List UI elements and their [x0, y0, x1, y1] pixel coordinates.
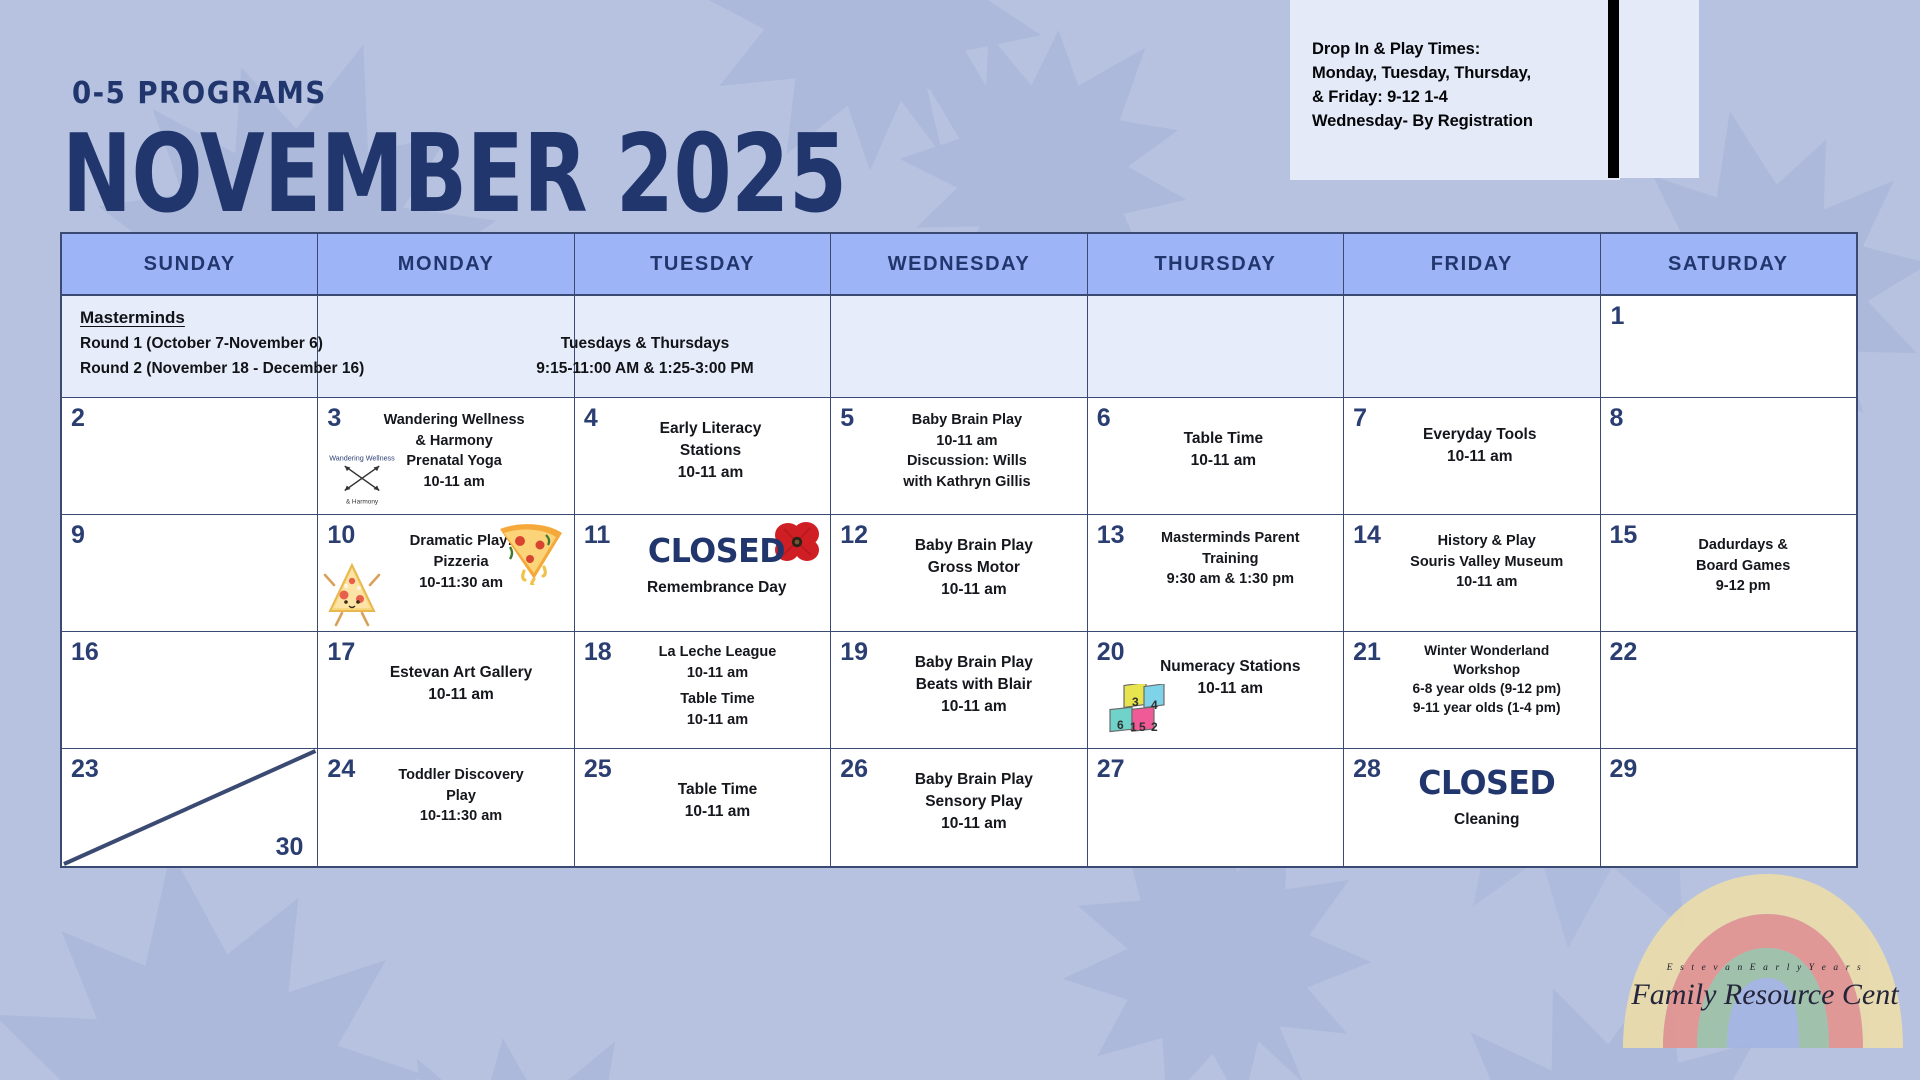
event-line: Wandering Wellness [341, 410, 567, 431]
event-line: Everyday Tools [1367, 424, 1593, 446]
svg-text:& Harmony: & Harmony [346, 498, 379, 505]
event-line: Sensory Play [868, 791, 1080, 813]
event-line: Discussion: Wills [854, 451, 1080, 472]
event-line: 10-11 am [868, 696, 1080, 718]
week-row-3: 16 17 Estevan Art Gallery 10-11 am 18 La… [62, 632, 1856, 749]
event-line: 10-11:30 am [355, 806, 567, 827]
week-row-2: 9 10 [62, 515, 1856, 632]
event-line: 10-11 am [598, 462, 824, 484]
day-cell-14[interactable]: 14 History & Play Souris Valley Museum 1… [1344, 515, 1600, 632]
day-cell-28[interactable]: 28 CLOSED Cleaning [1344, 749, 1600, 866]
weekday-label: MONDAY [398, 253, 495, 276]
event-line: 10-11 am [1367, 446, 1593, 468]
masterminds-round1: Round 1 (October 7-November 6) Tuesdays … [80, 332, 840, 357]
event-line: Stations [598, 440, 824, 462]
day-number: 1 [1606, 300, 1625, 329]
logo-name: Family Resource Cent [1630, 978, 1899, 1011]
dropin-line-days: Monday, Tuesday, Thursday, [1312, 62, 1620, 86]
event-text: Baby Brain Play Beats with Blair 10-11 a… [868, 636, 1083, 718]
day-number: 12 [835, 519, 868, 548]
weekday-header-sunday: SUNDAY [62, 234, 318, 296]
weekday-header-monday: MONDAY [318, 234, 574, 296]
masterminds-cell-thursday [1088, 296, 1344, 398]
event-line: 10-11 am [868, 813, 1080, 835]
day-cell-19[interactable]: 19 Baby Brain Play Beats with Blair 10-1… [831, 632, 1087, 749]
day-number: 9 [66, 519, 85, 548]
event-line: Beats with Blair [868, 674, 1080, 696]
svg-text:1: 1 [1130, 720, 1137, 734]
programs-kicker: 0-5 PROGRAMS [72, 76, 327, 111]
event-text: Everyday Tools 10-11 am [1367, 402, 1596, 468]
svg-text:6: 6 [1117, 718, 1124, 732]
family-resource-centre-logo: E s t e v a n E a r l y Y e a r s Family… [1615, 852, 1915, 1057]
wandering-wellness-logo-icon: Wandering Wellness & Harmony [326, 450, 398, 508]
day-cell-3[interactable]: 3 Wandering Wellness & Harmony Wandering… [318, 398, 574, 515]
day-cell-27[interactable]: 27 [1088, 749, 1344, 866]
masterminds-info: Masterminds Round 1 (October 7-November … [80, 308, 840, 382]
svg-text:2: 2 [1151, 720, 1158, 734]
weekday-label: TUESDAY [650, 253, 755, 276]
event-text: Early Literacy Stations 10-11 am [598, 402, 827, 484]
day-number: 16 [66, 636, 99, 665]
day-cell-26[interactable]: 26 Baby Brain Play Sensory Play 10-11 am [831, 749, 1087, 866]
event-text: CLOSED Cleaning [1381, 753, 1596, 831]
masterminds-cell-friday [1344, 296, 1600, 398]
masterminds-round2-times: 9:15-11:00 AM & 1:25-3:00 PM [450, 357, 840, 382]
day-number: 29 [1605, 753, 1638, 782]
day-number: 8 [1605, 402, 1624, 431]
event-text: Baby Brain Play 10-11 am Discussion: Wil… [854, 402, 1083, 492]
svg-text:4: 4 [1151, 698, 1158, 712]
day-cell-12[interactable]: 12 Baby Brain Play Gross Motor 10-11 am [831, 515, 1087, 632]
masterminds-banner-row: Masterminds Round 1 (October 7-November … [62, 296, 1856, 398]
day-number: 5 [835, 402, 854, 431]
day-cell-25[interactable]: 25 Table Time 10-11 am [575, 749, 831, 866]
event-text: Estevan Art Gallery 10-11 am [355, 636, 570, 706]
day-cell-4[interactable]: 4 Early Literacy Stations 10-11 am [575, 398, 831, 515]
number-blocks-icon: 3 4 6 1 5 2 [1106, 684, 1174, 740]
masterminds-round1-dates: Round 1 (October 7-November 6) [80, 332, 450, 357]
day-cell-23-30[interactable]: 23 30 [62, 749, 318, 866]
event-text: La Leche League 10-11 am Table Time 10-1… [612, 636, 827, 730]
page-title: NOVEMBER 2025 [62, 112, 847, 237]
logo-tagline: E s t e v a n E a r l y Y e a r s [1666, 963, 1864, 973]
event-line: 10-11 am [854, 431, 1080, 452]
event-text: History & Play Souris Valley Museum 10-1… [1381, 519, 1596, 593]
day-number: 4 [579, 402, 598, 431]
dropin-line-wednesday: Wednesday- By Registration [1312, 110, 1620, 134]
event-line: Numeracy Stations [1125, 656, 1337, 678]
event-text: Masterminds Parent Training 9:30 am & 1:… [1125, 519, 1340, 590]
day-cell-13[interactable]: 13 Masterminds Parent Training 9:30 am &… [1088, 515, 1344, 632]
calendar-grid: SUNDAY MONDAY TUESDAY WEDNESDAY THURSDAY… [60, 232, 1858, 868]
dropin-play-times-box: Drop In & Play Times: Monday, Tuesday, T… [1290, 0, 1620, 180]
day-cell-16[interactable]: 16 [62, 632, 318, 749]
day-number: 23 [66, 753, 99, 782]
closed-reason: Remembrance Day [610, 577, 823, 599]
day-cell-10[interactable]: 10 [318, 515, 574, 632]
event-line: Baby Brain Play [854, 410, 1080, 431]
day-number: 25 [579, 753, 612, 782]
day-number: 2 [66, 402, 85, 431]
closed-label: CLOSED [1385, 765, 1588, 801]
event-line: 10-11 am [612, 663, 824, 684]
masterminds-round1-days: Tuesdays & Thursdays [450, 332, 840, 357]
event-line: Souris Valley Museum [1381, 552, 1593, 573]
day-number: 22 [1605, 636, 1638, 665]
event-line: & Harmony [341, 431, 567, 452]
masterminds-round2-dates: Round 2 (November 18 - December 16) [80, 357, 450, 382]
day-number: 19 [835, 636, 868, 665]
event-line: 9:30 am & 1:30 pm [1125, 569, 1337, 590]
day-number: 3 [322, 402, 341, 431]
event-line: 10-11 am [355, 684, 567, 706]
event-line: 10-11 am [1111, 450, 1337, 472]
day-number: 28 [1348, 753, 1381, 782]
weekday-label: THURSDAY [1154, 253, 1276, 276]
svg-text:Wandering Wellness: Wandering Wellness [330, 453, 396, 462]
day-cell-2[interactable]: 2 [62, 398, 318, 515]
event-line: Table Time [612, 689, 824, 710]
day-cell-21[interactable]: 21 Winter Wonderland Workshop 6-8 year o… [1344, 632, 1600, 749]
weekday-header-wednesday: WEDNESDAY [831, 234, 1087, 296]
day-cell-22[interactable]: 22 [1601, 632, 1856, 749]
weekday-label: SUNDAY [144, 253, 236, 276]
day-cell-7[interactable]: 7 Everyday Tools 10-11 am [1344, 398, 1600, 515]
event-line: with Kathryn Gillis [854, 472, 1080, 493]
masterminds-title: Masterminds [80, 308, 840, 328]
pizza-character-icon [322, 555, 382, 627]
day-cell-24[interactable]: 24 Toddler Discovery Play 10-11:30 am [318, 749, 574, 866]
event-text: Table Time 10-11 am [1111, 402, 1340, 472]
event-line: Baby Brain Play [868, 535, 1080, 557]
event-line: Board Games [1637, 556, 1849, 577]
event-line: 9-11 year olds (1-4 pm) [1381, 699, 1593, 718]
svg-text:3: 3 [1132, 695, 1139, 709]
day-number: 7 [1348, 402, 1367, 431]
dropin-line-title: Drop In & Play Times: [1312, 38, 1620, 62]
masterminds-cell-wednesday [831, 296, 1087, 398]
dropin-box-right-fill [1619, 0, 1699, 178]
masterminds-round2: Round 2 (November 18 - December 16) 9:15… [80, 357, 840, 382]
event-line: Baby Brain Play [868, 769, 1080, 791]
event-line: Masterminds Parent [1125, 528, 1337, 549]
day-cell-5[interactable]: 5 Baby Brain Play 10-11 am Discussion: W… [831, 398, 1087, 515]
event-line: La Leche League [612, 642, 824, 663]
day-number: 13 [1092, 519, 1125, 548]
dropin-divider-bar [1608, 0, 1619, 178]
day-cell-29[interactable]: 29 [1601, 749, 1856, 866]
event-text: Baby Brain Play Sensory Play 10-11 am [868, 753, 1083, 835]
weekday-header-row: SUNDAY MONDAY TUESDAY WEDNESDAY THURSDAY… [62, 234, 1856, 296]
event-line: Play [355, 786, 567, 807]
event-line: 9-12 pm [1637, 576, 1849, 597]
event-line: Dadurdays & [1637, 535, 1849, 556]
event-line: Workshop [1381, 661, 1593, 680]
day-number: 15 [1605, 519, 1638, 548]
pizza-slice-icon [494, 519, 568, 585]
week-row-1: 2 3 Wandering Wellness & Harmony Wand [62, 398, 1856, 515]
day-number: 18 [579, 636, 612, 665]
event-text: Toddler Discovery Play 10-11:30 am [355, 753, 570, 827]
weekday-header-saturday: SATURDAY [1601, 234, 1856, 296]
day-cell-20[interactable]: 20 3 4 6 1 5 2 Numeracy Station [1088, 632, 1344, 749]
event-line: 6-8 year olds (9-12 pm) [1381, 680, 1593, 699]
event-text: Baby Brain Play Gross Motor 10-11 am [868, 519, 1083, 601]
day-number-30: 30 [276, 833, 304, 862]
day-cell-11[interactable]: 11 CLOSED Remembrance Day [575, 515, 831, 632]
event-line: 10-11 am [612, 801, 824, 823]
closed-reason: Cleaning [1381, 809, 1593, 831]
event-line: 10-11 am [612, 710, 824, 731]
day-number: 20 [1092, 636, 1125, 665]
day-cell-17[interactable]: 17 Estevan Art Gallery 10-11 am [318, 632, 574, 749]
masterminds-cell-sunday: Masterminds Round 1 (October 7-November … [62, 296, 318, 398]
weekday-header-tuesday: TUESDAY [575, 234, 831, 296]
event-text: Winter Wonderland Workshop 6-8 year olds… [1381, 636, 1596, 718]
weekday-header-thursday: THURSDAY [1088, 234, 1344, 296]
day-number: 24 [322, 753, 355, 782]
day-number: 17 [322, 636, 355, 665]
event-line: Training [1125, 549, 1337, 570]
day-cell-8[interactable]: 8 [1601, 398, 1856, 515]
svg-text:5: 5 [1139, 720, 1146, 734]
day-cell-18[interactable]: 18 La Leche League 10-11 am Table Time 1… [575, 632, 831, 749]
day-cell-6[interactable]: 6 Table Time 10-11 am [1088, 398, 1344, 515]
day-cell-9[interactable]: 9 [62, 515, 318, 632]
weekday-label: SATURDAY [1668, 253, 1789, 276]
event-line: Toddler Discovery [355, 765, 567, 786]
event-line: Early Literacy [598, 418, 824, 440]
day-number: 27 [1092, 753, 1125, 782]
weekday-header-friday: FRIDAY [1344, 234, 1600, 296]
day-number: 21 [1348, 636, 1381, 665]
event-line: 10-11 am [868, 579, 1080, 601]
event-line: Gross Motor [868, 557, 1080, 579]
day-cell-15[interactable]: 15 Dadurdays & Board Games 9-12 pm [1601, 515, 1856, 632]
event-line: Baby Brain Play [868, 652, 1080, 674]
day-number: 6 [1092, 402, 1111, 431]
event-line: Table Time [1111, 428, 1337, 450]
event-line: History & Play [1381, 531, 1593, 552]
day-number: 26 [835, 753, 868, 782]
day-number: 11 [579, 519, 610, 548]
day-number: 14 [1348, 519, 1381, 548]
event-line: Estevan Art Gallery [355, 662, 567, 684]
event-text: Dadurdays & Board Games 9-12 pm [1637, 519, 1852, 597]
weekday-label: WEDNESDAY [888, 253, 1031, 276]
event-text: Table Time 10-11 am [612, 753, 827, 823]
event-line: Winter Wonderland [1381, 642, 1593, 661]
event-line: 10-11 am [1381, 572, 1593, 593]
day-number: 10 [322, 519, 355, 548]
week-row-4: 23 30 24 Toddler Discovery Play 10-11:30… [62, 749, 1856, 866]
closed-label: CLOSED [615, 533, 819, 569]
day-cell-1[interactable]: 1 [1601, 296, 1856, 398]
dropin-line-hours: & Friday: 9-12 1-4 [1312, 86, 1620, 110]
event-line: Table Time [612, 779, 824, 801]
weekday-label: FRIDAY [1431, 253, 1513, 276]
